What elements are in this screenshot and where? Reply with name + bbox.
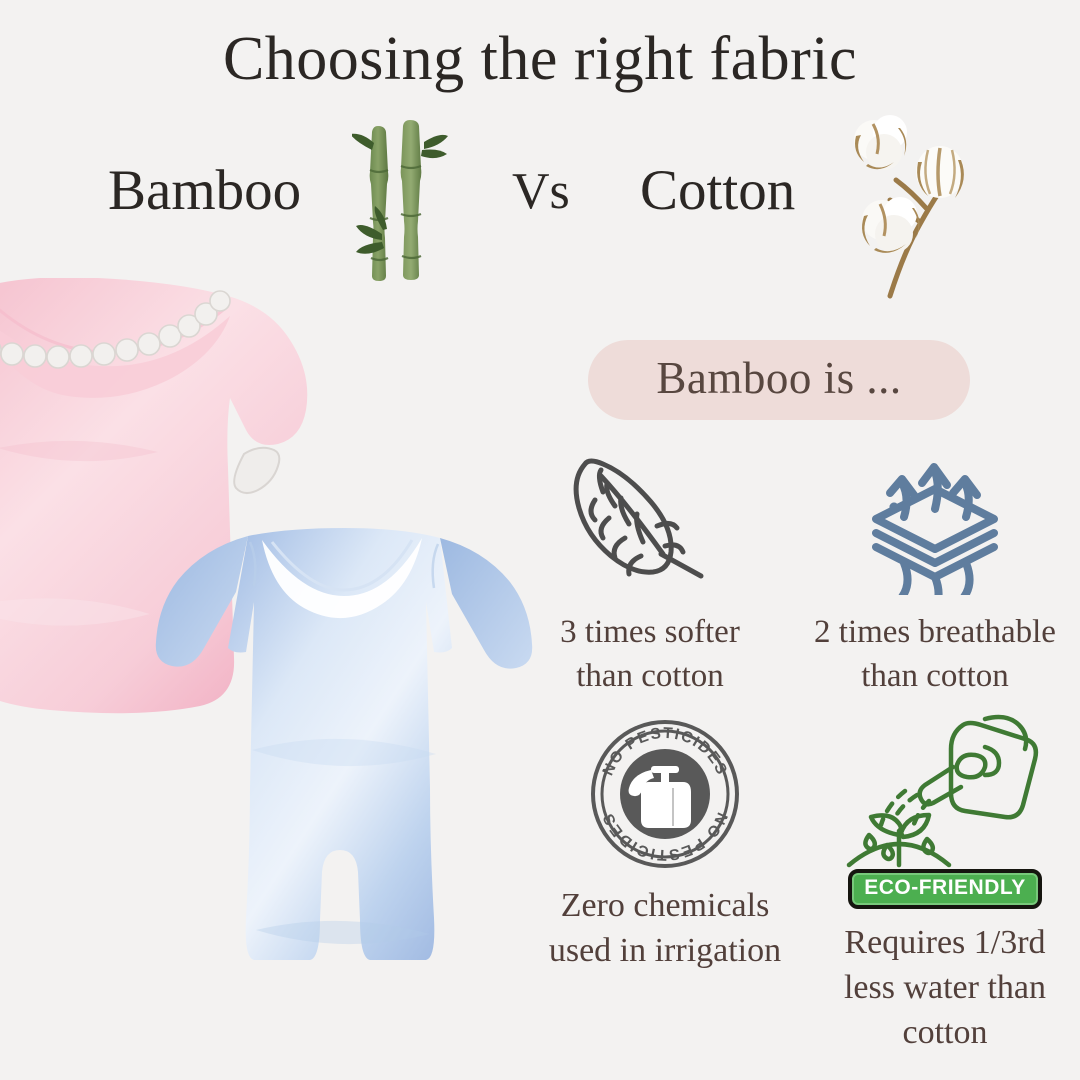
eco-friendly-badge-label: ECO-FRIENDLY: [864, 876, 1026, 899]
benefit-softer-line1: 3 times softer: [520, 611, 780, 655]
benefit-less-water: ECO-FRIENDLY Requires 1/3rd less water t…: [810, 700, 1080, 1056]
heading-versus: Vs: [512, 162, 570, 221]
feather-icon: [565, 450, 735, 595]
benefit-less-water-line3: cotton: [810, 1011, 1080, 1056]
benefit-less-water-caption: Requires 1/3rd less water than cotton: [810, 921, 1080, 1056]
infographic-canvas: Choosing the right fabric Bamboo Vs Cott…: [0, 0, 1080, 1080]
benefit-no-pesticides-caption: Zero chemicals used in irrigation: [520, 884, 810, 974]
benefit-less-water-line1: Requires 1/3rd: [810, 921, 1080, 966]
page-title: Choosing the right fabric: [0, 24, 1080, 95]
watering-can-icon: [835, 703, 1055, 875]
eco-friendly-badge: ECO-FRIENDLY: [848, 869, 1042, 909]
benefit-softer-line2: than cotton: [520, 655, 780, 699]
benefit-breathable-line2: than cotton: [790, 655, 1080, 699]
benefit-breathable: 2 times breathable than cotton: [790, 445, 1080, 698]
heading-bamboo: Bamboo: [108, 158, 301, 223]
cotton-branch-illustration: [828, 104, 1033, 319]
benefit-no-pesticides-line2: used in irrigation: [520, 929, 810, 974]
bamboo-is-banner-label: Bamboo is ...: [656, 352, 901, 408]
no-pesticides-badge-icon-wrap: NO PESTICIDES NO PESTICIDES: [520, 710, 810, 870]
breathable-layers-icon: [860, 445, 1010, 595]
bamboo-is-banner: Bamboo is ...: [588, 340, 970, 420]
benefit-no-pesticides-line1: Zero chemicals: [520, 884, 810, 929]
feather-icon-wrap: [520, 445, 780, 595]
benefit-less-water-line2: less water than: [810, 966, 1080, 1011]
blue-baby-romper-illustration: [152, 500, 534, 1060]
benefit-softer: 3 times softer than cotton: [520, 445, 780, 698]
benefit-softer-caption: 3 times softer than cotton: [520, 611, 780, 698]
watering-can-icon-wrap: [810, 700, 1080, 875]
no-pesticides-badge-icon: NO PESTICIDES NO PESTICIDES: [589, 718, 741, 870]
benefit-no-pesticides: NO PESTICIDES NO PESTICIDES Zero chemica…: [520, 710, 810, 974]
benefit-breathable-line1: 2 times breathable: [790, 611, 1080, 655]
bamboo-stalks-illustration: [352, 106, 462, 286]
heading-cotton: Cotton: [640, 158, 795, 223]
benefit-breathable-caption: 2 times breathable than cotton: [790, 611, 1080, 698]
breathable-layers-icon-wrap: [790, 445, 1080, 595]
